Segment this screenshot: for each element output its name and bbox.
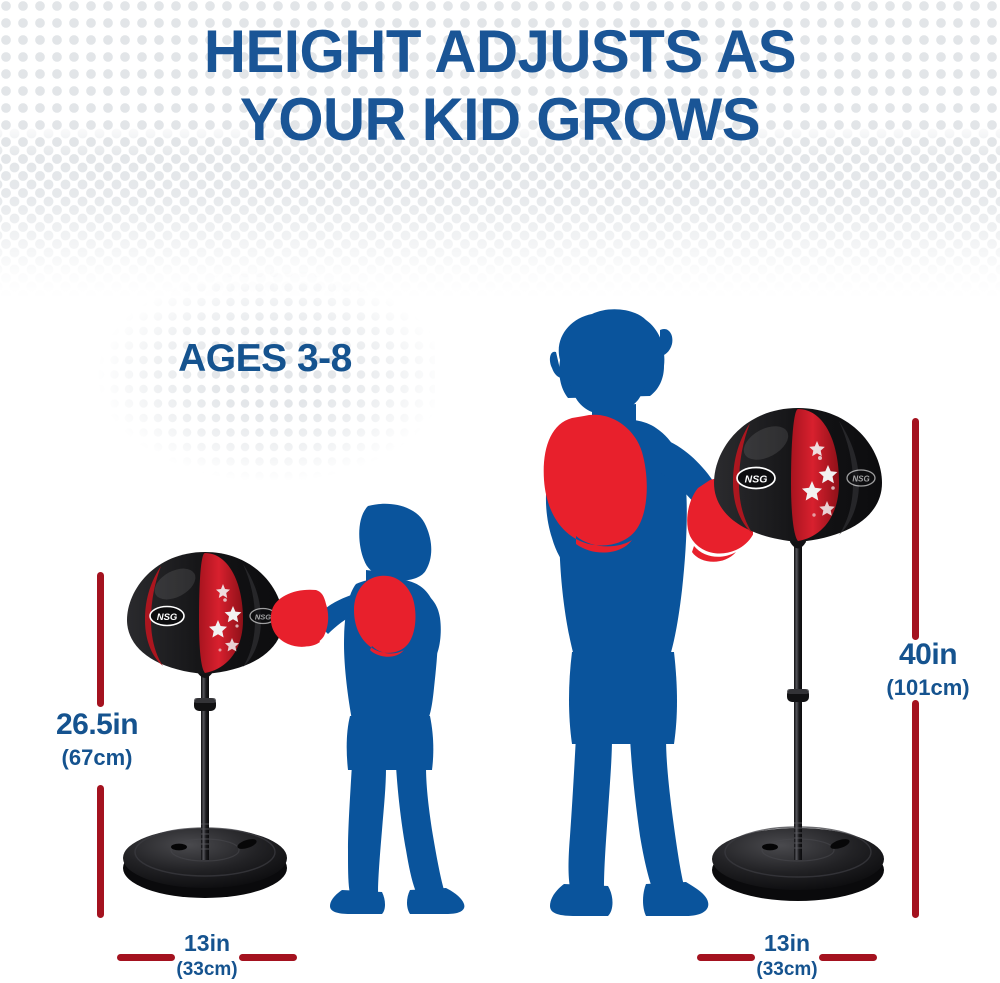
measure-left-inches: 26.5in: [17, 710, 177, 740]
measure-right-width-cm: (33cm): [727, 960, 847, 979]
infographic-canvas: HEIGHT ADJUSTS AS YOUR KID GROWS AGES 3-…: [0, 0, 1000, 983]
stand-pole-high: [794, 545, 802, 860]
measure-label-right-height: 40in (101cm): [858, 640, 998, 699]
bag-logo-low: NSG: [150, 607, 184, 626]
svg-text:NSG: NSG: [852, 475, 869, 484]
measure-right-cm: (101cm): [858, 677, 998, 699]
punching-bag-high: NSG NSG: [714, 408, 882, 542]
measure-label-left-height: 26.5in (67cm): [17, 710, 177, 769]
measure-left-width-cm: (33cm): [147, 960, 267, 979]
bag-logo-high: NSG: [737, 468, 775, 489]
svg-text:NSG: NSG: [745, 474, 768, 486]
measure-line-left-lower: [97, 785, 104, 918]
svg-text:NSG: NSG: [157, 612, 178, 623]
measure-right-inches: 40in: [858, 640, 998, 670]
measure-line-right-lower: [912, 700, 919, 918]
bag-logo-secondary-high: NSG: [847, 470, 875, 486]
height-adjustment-collar-low: [194, 698, 216, 711]
measure-right-width-inches: 13in: [727, 932, 847, 955]
measure-line-left-upper: [97, 572, 104, 707]
stand-pole-threads-low: [201, 820, 209, 860]
measure-line-right-upper: [912, 418, 919, 640]
headline-line-1: HEIGHT ADJUSTS AS: [15, 18, 985, 86]
measure-label-left-width: 13in (33cm): [147, 932, 267, 979]
measure-label-right-width: 13in (33cm): [727, 932, 847, 979]
silhouette-young-child-boxer: [268, 498, 493, 918]
measure-left-width-inches: 13in: [147, 932, 267, 955]
height-adjustment-collar-high: [787, 689, 809, 702]
page-title: HEIGHT ADJUSTS AS YOUR KID GROWS: [15, 18, 985, 154]
headline-line-2: YOUR KID GROWS: [15, 86, 985, 154]
measure-left-cm: (67cm): [17, 747, 177, 769]
young-child-body: [314, 504, 464, 914]
ages-badge-label: AGES 3-8: [95, 337, 435, 381]
punching-bag-low: NSG NSG: [127, 552, 283, 674]
